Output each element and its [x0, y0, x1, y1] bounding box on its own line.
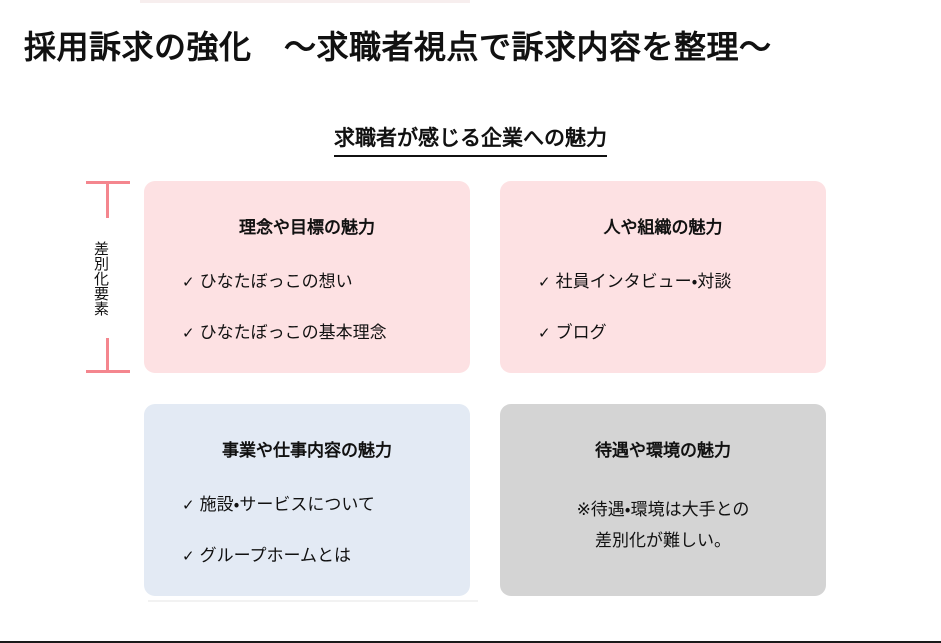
bracket-cap-bottom	[86, 370, 130, 373]
bracket-label: 差別化要素	[83, 218, 109, 338]
list-item-label: ブログ	[556, 323, 607, 342]
check-icon: ✓	[538, 325, 551, 342]
box-item-list: ✓ひなたぼっこの想い ✓ひなたぼっこの基本理念	[144, 267, 470, 343]
box-item-list: ✓社員インタビュー・対談 ✓ブログ	[500, 267, 826, 343]
check-icon: ✓	[182, 497, 195, 514]
top-edge-artifact	[140, 0, 470, 3]
box-title: 事業や仕事内容の魅力	[144, 436, 470, 461]
list-item-label: 社員インタビュー・対談	[556, 272, 732, 291]
box-title: 理念や目標の魅力	[144, 213, 470, 238]
list-item-label: ひなたぼっこの想い	[200, 272, 353, 291]
box-item-list: ✓施設・サービスについて ✓グループホームとは	[144, 490, 470, 566]
list-item[interactable]: ✓ブログ	[538, 318, 826, 343]
check-icon: ✓	[182, 548, 195, 565]
box-note: ※待遇・環境は大手との 差別化が難しい。	[500, 494, 826, 557]
list-item[interactable]: ✓社員インタビュー・対談	[538, 267, 826, 292]
section-heading: 求職者が感じる企業への魅力	[0, 122, 941, 157]
attraction-box-concept[interactable]: 理念や目標の魅力 ✓ひなたぼっこの想い ✓ひなたぼっこの基本理念	[144, 181, 470, 373]
check-icon: ✓	[182, 274, 195, 291]
bottom-edge-artifact	[148, 600, 478, 602]
list-item-label: 施設・サービスについて	[200, 495, 375, 514]
box-note-line-2: 差別化が難しい。	[500, 525, 826, 556]
check-icon: ✓	[538, 274, 551, 291]
check-icon: ✓	[182, 325, 195, 342]
attraction-box-benefits[interactable]: 待遇や環境の魅力 ※待遇・環境は大手との 差別化が難しい。	[500, 404, 826, 596]
list-item[interactable]: ✓グループホームとは	[182, 541, 470, 566]
list-item[interactable]: ✓ひなたぼっこの想い	[182, 267, 470, 292]
attraction-box-business[interactable]: 事業や仕事内容の魅力 ✓施設・サービスについて ✓グループホームとは	[144, 404, 470, 596]
attraction-box-people[interactable]: 人や組織の魅力 ✓社員インタビュー・対談 ✓ブログ	[500, 181, 826, 373]
list-item-label: グループホームとは	[200, 546, 351, 565]
box-note-line-1: ※待遇・環境は大手との	[500, 494, 826, 525]
list-item[interactable]: ✓施設・サービスについて	[182, 490, 470, 515]
page-title: 採用訴求の強化 〜求職者視点で訴求内容を整理〜	[24, 22, 772, 68]
list-item-label: ひなたぼっこの基本理念	[200, 323, 387, 342]
slide-canvas: 採用訴求の強化 〜求職者視点で訴求内容を整理〜 求職者が感じる企業への魅力 差別…	[0, 0, 941, 643]
section-heading-text: 求職者が感じる企業への魅力	[334, 122, 607, 157]
box-title: 待遇や環境の魅力	[500, 436, 826, 461]
list-item[interactable]: ✓ひなたぼっこの基本理念	[182, 318, 470, 343]
box-title: 人や組織の魅力	[500, 213, 826, 238]
